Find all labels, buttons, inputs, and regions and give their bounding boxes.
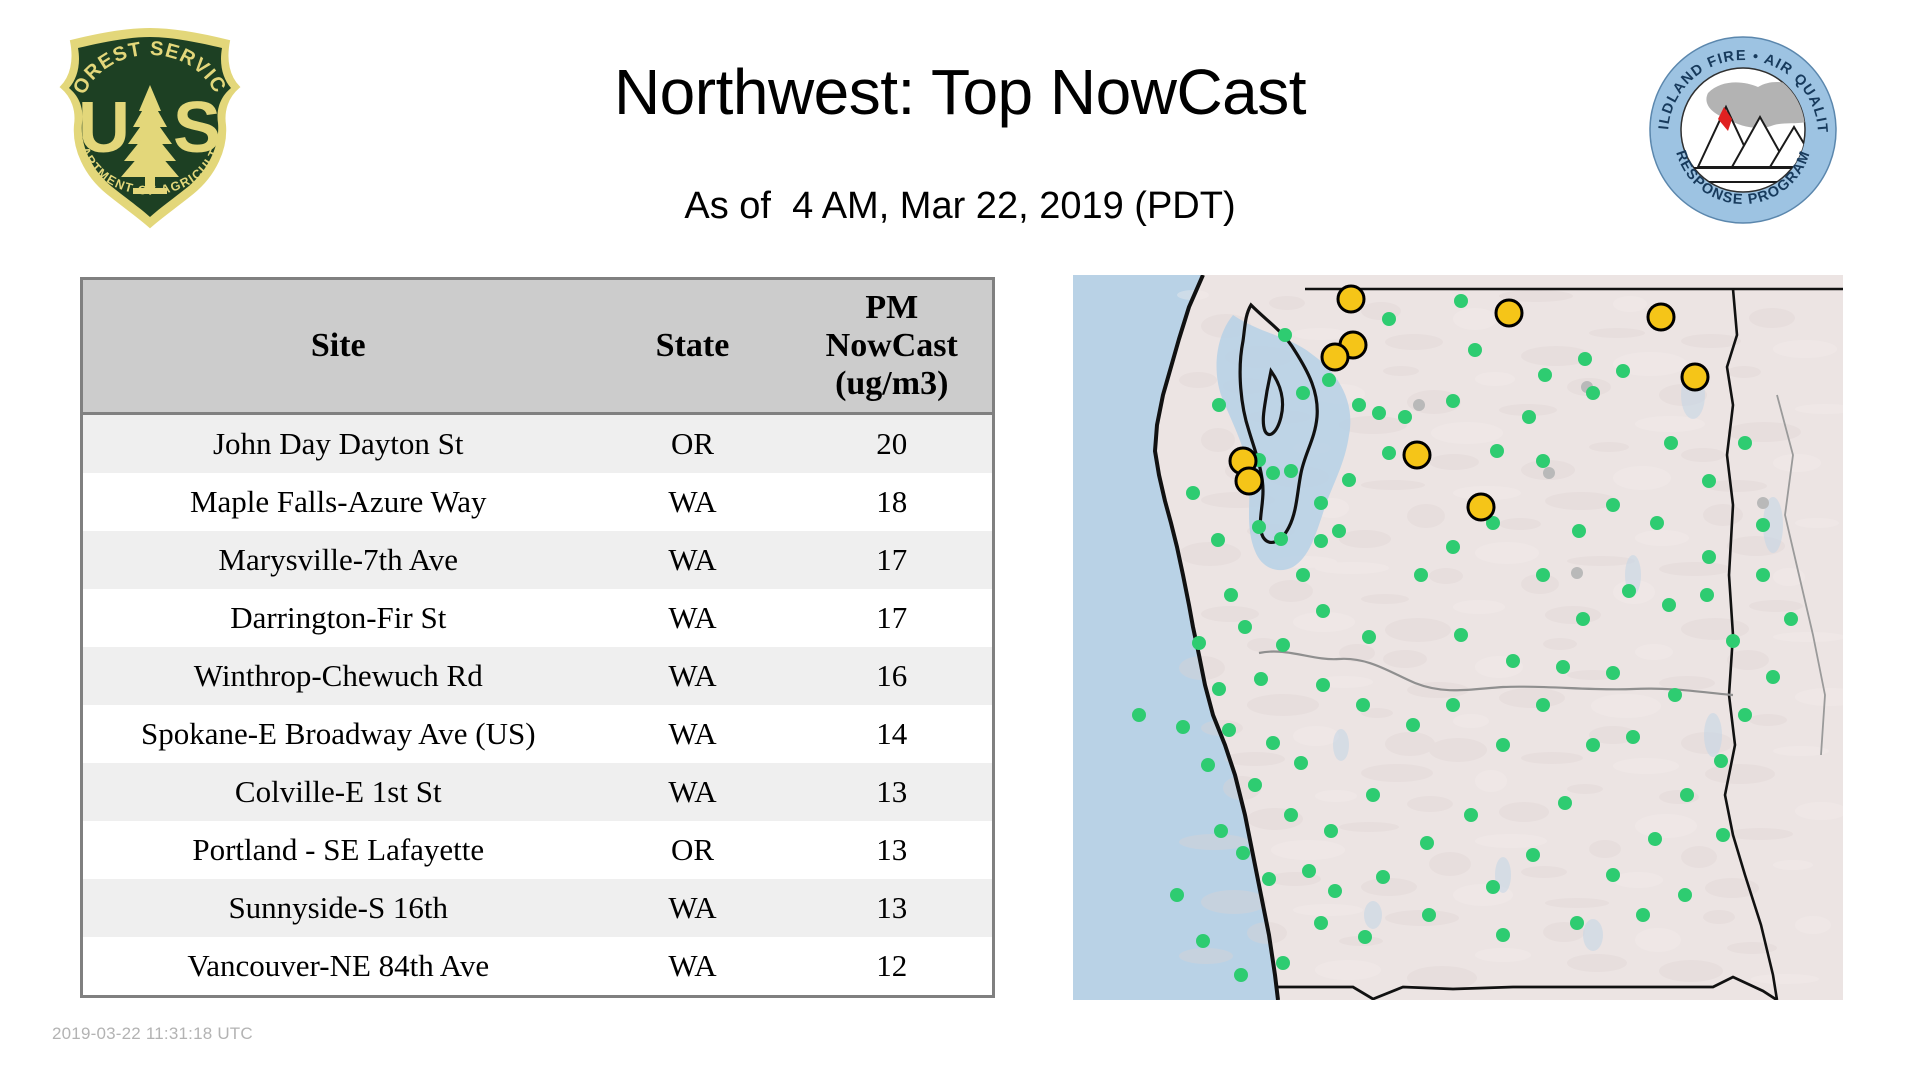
terrain-patch: [1613, 758, 1679, 774]
terrain-patch: [1703, 504, 1743, 526]
monitor-marker-good[interactable]: [1420, 836, 1434, 850]
monitor-marker-good[interactable]: [1536, 568, 1550, 582]
monitor-marker-good[interactable]: [1278, 328, 1292, 342]
terrain-patch: [1453, 308, 1497, 330]
terrain-patch: [1749, 600, 1803, 612]
terrain-patch: [1727, 942, 1777, 954]
terrain-patch: [1751, 974, 1819, 984]
monitor-marker-good[interactable]: [1196, 934, 1210, 948]
monitor-marker-good[interactable]: [1314, 534, 1328, 548]
monitor-marker-good[interactable]: [1766, 670, 1780, 684]
monitor-marker-gray[interactable]: [1413, 399, 1425, 411]
terrain-patch: [1749, 714, 1787, 726]
terrain-patch: [1591, 694, 1661, 718]
cell-pm: 16: [792, 647, 994, 705]
cell-pm: 12: [792, 937, 994, 997]
table-row: Marysville-7th AveWA17: [82, 531, 994, 589]
terrain-patch: [1201, 606, 1259, 622]
terrain-patch: [1383, 650, 1427, 668]
terrain-patch: [1361, 480, 1425, 490]
column-header-state-label: State: [656, 327, 730, 364]
monitor-marker-good[interactable]: [1248, 778, 1262, 792]
monitor-marker-good[interactable]: [1558, 796, 1572, 810]
terrain-patch: [1705, 764, 1775, 784]
terrain-patch: [1749, 308, 1795, 328]
terrain-patch: [1247, 638, 1279, 652]
monitor-marker-good[interactable]: [1496, 738, 1510, 752]
monitor-marker-good[interactable]: [1572, 524, 1586, 538]
monitor-marker-gray[interactable]: [1543, 467, 1555, 479]
monitor-marker-good[interactable]: [1578, 352, 1592, 366]
cell-site: Darrington-Fir St: [82, 589, 594, 647]
table-row: Maple Falls-Azure WayWA18: [82, 473, 994, 531]
column-header-pm-line1: PM: [865, 289, 918, 326]
monitor-marker-good[interactable]: [1222, 723, 1236, 737]
monitor-marker-good[interactable]: [1606, 498, 1620, 512]
monitor-marker-good[interactable]: [1664, 436, 1678, 450]
map-lake: [1704, 713, 1722, 757]
cell-pm: 13: [792, 821, 994, 879]
monitor-marker-good[interactable]: [1454, 294, 1468, 308]
terrain-patch: [1475, 948, 1531, 962]
column-header-site: Site: [82, 279, 594, 414]
terrain-patch: [1499, 802, 1549, 822]
cell-pm: 14: [792, 705, 994, 763]
monitor-marker-moderate[interactable]: [1648, 304, 1674, 330]
terrain-patch: [1659, 562, 1731, 576]
cell-site: Winthrop-Chewuch Rd: [82, 647, 594, 705]
terrain-patch: [1179, 372, 1217, 388]
monitor-marker-good[interactable]: [1212, 682, 1226, 696]
monitor-marker-good[interactable]: [1366, 788, 1380, 802]
terrain-patch: [1453, 600, 1505, 614]
monitor-marker-good[interactable]: [1186, 486, 1200, 500]
cell-site: John Day Dayton St: [82, 414, 594, 474]
terrain-patch: [1567, 954, 1627, 972]
terrain-patch: [1521, 866, 1567, 878]
monitor-marker-good[interactable]: [1316, 678, 1330, 692]
map-lake: [1583, 919, 1603, 951]
terrain-patch: [1727, 366, 1761, 378]
terrain-patch: [1613, 296, 1647, 312]
monitor-marker-good[interactable]: [1446, 540, 1460, 554]
monitor-marker-good[interactable]: [1236, 846, 1250, 860]
terrain-patch: [1385, 334, 1443, 350]
page-subtitle: As of 4 AM, Mar 22, 2019 (PDT): [0, 185, 1920, 228]
terrain-patch: [1589, 328, 1645, 338]
monitor-marker-good[interactable]: [1606, 666, 1620, 680]
terrain-patch: [1499, 518, 1541, 530]
terrain-patch: [1201, 890, 1267, 914]
terrain-patch: [1681, 846, 1717, 868]
monitor-marker-good[interactable]: [1556, 660, 1570, 674]
monitor-marker-good[interactable]: [1606, 868, 1620, 882]
monitor-marker-good[interactable]: [1522, 410, 1536, 424]
terrain-patch: [1339, 822, 1399, 832]
monitor-marker-good[interactable]: [1496, 928, 1510, 942]
monitor-marker-good[interactable]: [1201, 758, 1215, 772]
monitor-marker-good[interactable]: [1678, 888, 1692, 902]
table-row: Winthrop-Chewuch RdWA16: [82, 647, 994, 705]
monitor-marker-good[interactable]: [1702, 474, 1716, 488]
cell-pm: 17: [792, 531, 994, 589]
cell-pm: 13: [792, 763, 994, 821]
monitor-marker-good[interactable]: [1214, 824, 1228, 838]
monitor-marker-good[interactable]: [1276, 638, 1290, 652]
monitor-marker-good[interactable]: [1586, 386, 1600, 400]
terrain-patch: [1383, 366, 1419, 376]
terrain-patch: [1271, 840, 1345, 860]
terrain-patch: [1659, 676, 1715, 690]
monitor-marker-good[interactable]: [1314, 496, 1328, 510]
monitor-marker-good[interactable]: [1352, 398, 1366, 412]
monitor-marker-good[interactable]: [1234, 968, 1248, 982]
monitor-marker-good[interactable]: [1332, 524, 1346, 538]
monitor-marker-good[interactable]: [1192, 636, 1206, 650]
monitor-marker-gray[interactable]: [1571, 567, 1583, 579]
terrain-patch: [1545, 492, 1617, 510]
monitor-marker-good[interactable]: [1211, 533, 1225, 547]
terrain-patch: [1361, 878, 1417, 896]
terrain-patch: [1635, 644, 1673, 660]
cell-state: WA: [594, 937, 792, 997]
terrain-patch: [1361, 764, 1433, 782]
monitor-marker-good[interactable]: [1176, 720, 1190, 734]
terrain-patch: [1407, 504, 1445, 528]
terrain-patch: [1635, 814, 1697, 838]
monitor-marker-good[interactable]: [1414, 568, 1428, 582]
terrain-patch: [1201, 428, 1235, 452]
cell-site: Sunnyside-S 16th: [82, 879, 594, 937]
monitor-marker-good[interactable]: [1266, 736, 1280, 750]
terrain-patch: [1429, 568, 1463, 584]
terrain-patch: [1315, 790, 1357, 802]
terrain-patch: [1179, 542, 1241, 566]
terrain-patch: [1293, 904, 1363, 916]
table-row: John Day Dayton StOR20: [82, 414, 994, 474]
monitor-marker-good[interactable]: [1714, 754, 1728, 768]
monitor-marker-good[interactable]: [1328, 884, 1342, 898]
monitor-marker-good[interactable]: [1726, 634, 1740, 648]
terrain-patch: [1773, 340, 1837, 358]
monitor-marker-good[interactable]: [1464, 808, 1478, 822]
terrain-patch: [1293, 726, 1339, 746]
column-header-pm-line2: NowCast: [826, 327, 958, 364]
monitor-marker-good[interactable]: [1536, 454, 1550, 468]
monitor-marker-good[interactable]: [1536, 698, 1550, 712]
terrain-patch: [1429, 852, 1471, 876]
monitor-marker-good[interactable]: [1238, 620, 1252, 634]
terrain-patch: [1339, 530, 1391, 548]
monitor-marker-good[interactable]: [1700, 588, 1714, 602]
monitor-marker-good[interactable]: [1276, 956, 1290, 970]
column-header-state: State: [594, 279, 792, 414]
monitor-marker-good[interactable]: [1284, 808, 1298, 822]
terrain-patch: [1545, 606, 1601, 624]
terrain-patch: [1431, 422, 1503, 444]
terrain-patch: [1429, 738, 1487, 762]
monitor-marker-good[interactable]: [1296, 386, 1310, 400]
terrain-patch: [1635, 928, 1681, 952]
terrain-patch: [1727, 422, 1801, 442]
monitor-marker-good[interactable]: [1376, 870, 1390, 884]
terrain-patch: [1453, 714, 1489, 728]
terrain-patch: [1475, 372, 1515, 386]
terrain-patch: [1385, 732, 1435, 756]
monitor-marker-good[interactable]: [1382, 312, 1396, 326]
terrain-patch: [1659, 960, 1723, 982]
terrain-patch: [1543, 638, 1577, 650]
terrain-patch: [1589, 442, 1629, 452]
monitor-marker-good[interactable]: [1526, 848, 1540, 862]
cell-state: OR: [594, 414, 792, 474]
monitor-marker-good[interactable]: [1648, 832, 1662, 846]
monitor-marker-good[interactable]: [1132, 708, 1146, 722]
terrain-patch: [1179, 948, 1233, 964]
cell-state: WA: [594, 705, 792, 763]
terrain-patch: [1567, 784, 1603, 794]
terrain-patch: [1681, 618, 1749, 640]
terrain-patch: [1247, 694, 1319, 716]
monitor-marker-good[interactable]: [1446, 394, 1460, 408]
monitor-marker-good[interactable]: [1296, 568, 1310, 582]
terrain-patch: [1773, 454, 1821, 472]
terrain-patch: [1727, 828, 1793, 840]
monitor-marker-good[interactable]: [1302, 864, 1316, 878]
terrain-patch: [1795, 518, 1839, 528]
column-header-pm-line3: (ug/m3): [835, 365, 948, 402]
table-row: Vancouver-NE 84th AveWA12: [82, 937, 994, 997]
monitor-marker-good[interactable]: [1570, 916, 1584, 930]
map-lake: [1364, 901, 1382, 929]
monitor-marker-good[interactable]: [1662, 598, 1676, 612]
terrain-patch: [1293, 328, 1347, 340]
table-row: Portland - SE LafayetteOR13: [82, 821, 994, 879]
monitor-marker-good[interactable]: [1342, 473, 1356, 487]
terrain-patch: [1499, 688, 1565, 708]
monitor-marker-good[interactable]: [1538, 368, 1552, 382]
table-row: Spokane-E Broadway Ave (US)WA14: [82, 705, 994, 763]
monitor-marker-good[interactable]: [1316, 604, 1330, 618]
cell-pm: 18: [792, 473, 994, 531]
cell-state: OR: [594, 821, 792, 879]
terrain-patch: [1589, 840, 1621, 858]
monitor-marker-good[interactable]: [1576, 612, 1590, 626]
terrain-patch: [1613, 872, 1663, 888]
terrain-patch: [1385, 618, 1451, 642]
monitor-marker-good[interactable]: [1468, 343, 1482, 357]
monitor-marker-good[interactable]: [1702, 550, 1716, 564]
monitor-marker-good[interactable]: [1382, 446, 1396, 460]
monitor-marker-good[interactable]: [1262, 872, 1276, 886]
table-row: Darrington-Fir StWA17: [82, 589, 994, 647]
cell-site: Vancouver-NE 84th Ave: [82, 937, 594, 997]
monitor-marker-good[interactable]: [1224, 588, 1238, 602]
monitor-marker-good[interactable]: [1266, 466, 1280, 480]
cell-state: WA: [594, 589, 792, 647]
monitor-marker-moderate[interactable]: [1468, 494, 1494, 520]
terrain-patch: [1703, 910, 1735, 924]
monitor-marker-good[interactable]: [1586, 738, 1600, 752]
monitor-marker-moderate[interactable]: [1322, 344, 1348, 370]
terrain-patch: [1361, 594, 1409, 604]
terrain-patch: [1773, 860, 1813, 870]
cell-pm: 20: [792, 414, 994, 474]
monitor-marker-moderate[interactable]: [1496, 300, 1522, 326]
monitor-marker-good[interactable]: [1506, 654, 1520, 668]
monitor-marker-good[interactable]: [1274, 532, 1288, 546]
terrain-patch: [1225, 752, 1285, 766]
monitor-marker-good[interactable]: [1668, 688, 1682, 702]
terrain-patch: [1429, 454, 1479, 470]
terrain-patch: [1475, 542, 1539, 564]
terrain-patch: [1385, 910, 1459, 926]
monitor-marker-good[interactable]: [1716, 828, 1730, 842]
terrain-patch: [1727, 650, 1769, 670]
terrain-patch: [1681, 334, 1741, 348]
monitor-marker-good[interactable]: [1680, 788, 1694, 802]
cell-state: WA: [594, 647, 792, 705]
monitor-marker-good[interactable]: [1294, 756, 1308, 770]
cell-state: WA: [594, 531, 792, 589]
monitor-marker-moderate[interactable]: [1682, 364, 1708, 390]
cell-pm: 17: [792, 589, 994, 647]
terrain-patch: [1681, 448, 1725, 462]
monitor-marker-good[interactable]: [1756, 518, 1770, 532]
terrain-patch: [1269, 580, 1313, 602]
top-nowcast-table-container: Site State PM NowCast (ug/m3) John Day D…: [80, 277, 992, 998]
monitor-marker-good[interactable]: [1398, 410, 1412, 424]
monitor-marker-good[interactable]: [1626, 730, 1640, 744]
monitor-marker-good[interactable]: [1170, 888, 1184, 902]
monitor-marker-good[interactable]: [1406, 718, 1420, 732]
monitor-marker-good[interactable]: [1622, 584, 1636, 598]
monitor-marker-good[interactable]: [1252, 520, 1266, 534]
table-body: John Day Dayton StOR20Maple Falls-Azure …: [82, 414, 994, 997]
monitor-marker-good[interactable]: [1314, 916, 1328, 930]
monitor-marker-moderate[interactable]: [1236, 468, 1262, 494]
monitor-marker-good[interactable]: [1616, 364, 1630, 378]
cell-site: Marysville-7th Ave: [82, 531, 594, 589]
monitor-marker-moderate[interactable]: [1404, 442, 1430, 468]
monitor-marker-good[interactable]: [1446, 698, 1460, 712]
monitor-marker-good[interactable]: [1422, 908, 1436, 922]
monitor-marker-good[interactable]: [1362, 630, 1376, 644]
air-quality-monitor-map[interactable]: [1073, 275, 1843, 1000]
terrain-patch: [1521, 752, 1583, 764]
monitor-marker-good[interactable]: [1738, 708, 1752, 722]
monitor-marker-good[interactable]: [1324, 824, 1338, 838]
monitor-marker-good[interactable]: [1738, 436, 1752, 450]
terrain-patch: [1795, 916, 1831, 934]
terrain-patch: [1269, 296, 1305, 310]
monitor-marker-good[interactable]: [1784, 612, 1798, 626]
cell-site: Colville-E 1st St: [82, 763, 594, 821]
terrain-patch: [1179, 834, 1249, 850]
monitor-marker-good[interactable]: [1486, 880, 1500, 894]
monitor-marker-gray[interactable]: [1757, 497, 1769, 509]
terrain-patch: [1635, 530, 1689, 546]
generation-timestamp: 2019-03-22 11:31:18 UTC: [52, 1024, 253, 1044]
page-title: Northwest: Top NowCast: [0, 55, 1920, 129]
terrain-patch: [1773, 632, 1843, 642]
cell-pm: 13: [792, 879, 994, 937]
monitor-marker-good[interactable]: [1650, 516, 1664, 530]
monitor-marker-good[interactable]: [1212, 398, 1226, 412]
table-row: Colville-E 1st StWA13: [82, 763, 994, 821]
monitor-marker-good[interactable]: [1372, 406, 1386, 420]
monitor-marker-good[interactable]: [1254, 672, 1268, 686]
terrain-patch: [1545, 898, 1609, 908]
cell-state: WA: [594, 879, 792, 937]
column-header-site-label: Site: [311, 327, 366, 364]
monitor-marker-good[interactable]: [1358, 930, 1372, 944]
column-header-pm-nowcast: PM NowCast (ug/m3): [792, 279, 994, 414]
cell-site: Spokane-E Broadway Ave (US): [82, 705, 594, 763]
terrain-patch: [1407, 796, 1453, 812]
monitor-marker-good[interactable]: [1284, 464, 1298, 478]
table-row: Sunnyside-S 16thWA13: [82, 879, 994, 937]
cell-site: Maple Falls-Azure Way: [82, 473, 594, 531]
monitor-marker-good[interactable]: [1490, 444, 1504, 458]
cell-state: WA: [594, 473, 792, 531]
monitor-marker-good[interactable]: [1322, 373, 1336, 387]
monitor-marker-moderate[interactable]: [1338, 286, 1364, 312]
terrain-patch: [1567, 556, 1635, 566]
monitor-marker-good[interactable]: [1454, 628, 1468, 642]
cell-site: Portland - SE Lafayette: [82, 821, 594, 879]
terrain-patch: [1315, 960, 1381, 980]
terrain-patch: [1475, 834, 1547, 848]
table-header-row: Site State PM NowCast (ug/m3): [82, 279, 994, 414]
monitor-marker-good[interactable]: [1636, 908, 1650, 922]
map-lake: [1333, 729, 1349, 761]
cell-state: WA: [594, 763, 792, 821]
top-nowcast-table: Site State PM NowCast (ug/m3) John Day D…: [80, 277, 995, 998]
monitor-marker-good[interactable]: [1356, 698, 1370, 712]
terrain-patch: [1613, 466, 1671, 490]
monitor-marker-good[interactable]: [1756, 568, 1770, 582]
terrain-patch: [1475, 770, 1507, 792]
